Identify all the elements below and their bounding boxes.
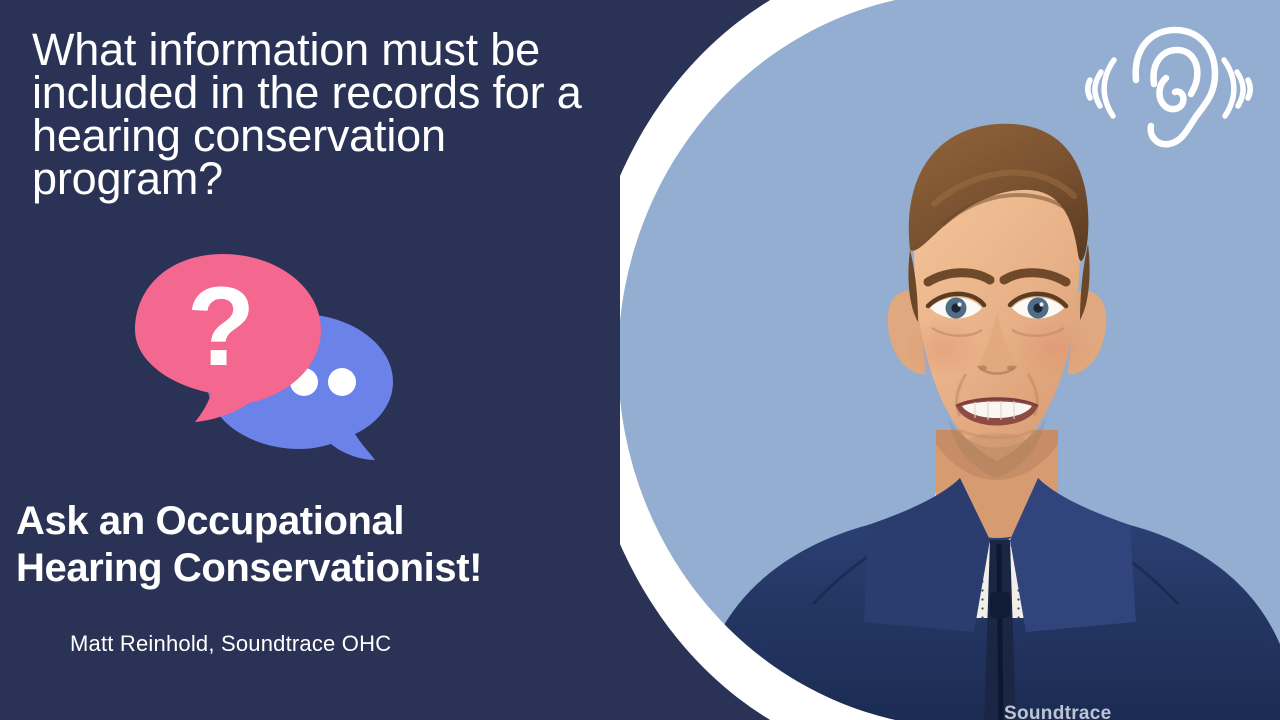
cta-heading: Ask an Occupational Hearing Conservation… xyxy=(16,498,656,592)
fleece-embroidery-logo: Soundtrace xyxy=(1004,703,1112,720)
speech-bubbles-graphic: ? xyxy=(125,252,415,492)
collar-left xyxy=(864,478,990,632)
ear-with-sound-waves-icon xyxy=(1081,22,1256,150)
speaker-byline: Matt Reinhold, Soundtrace OHC xyxy=(70,630,391,658)
page-title: What information must be included in the… xyxy=(32,28,682,200)
collar-right xyxy=(1010,478,1136,632)
question-mark-glyph: ? xyxy=(187,264,255,389)
slide-canvas: Soundtrace What information must be incl… xyxy=(0,0,1280,720)
